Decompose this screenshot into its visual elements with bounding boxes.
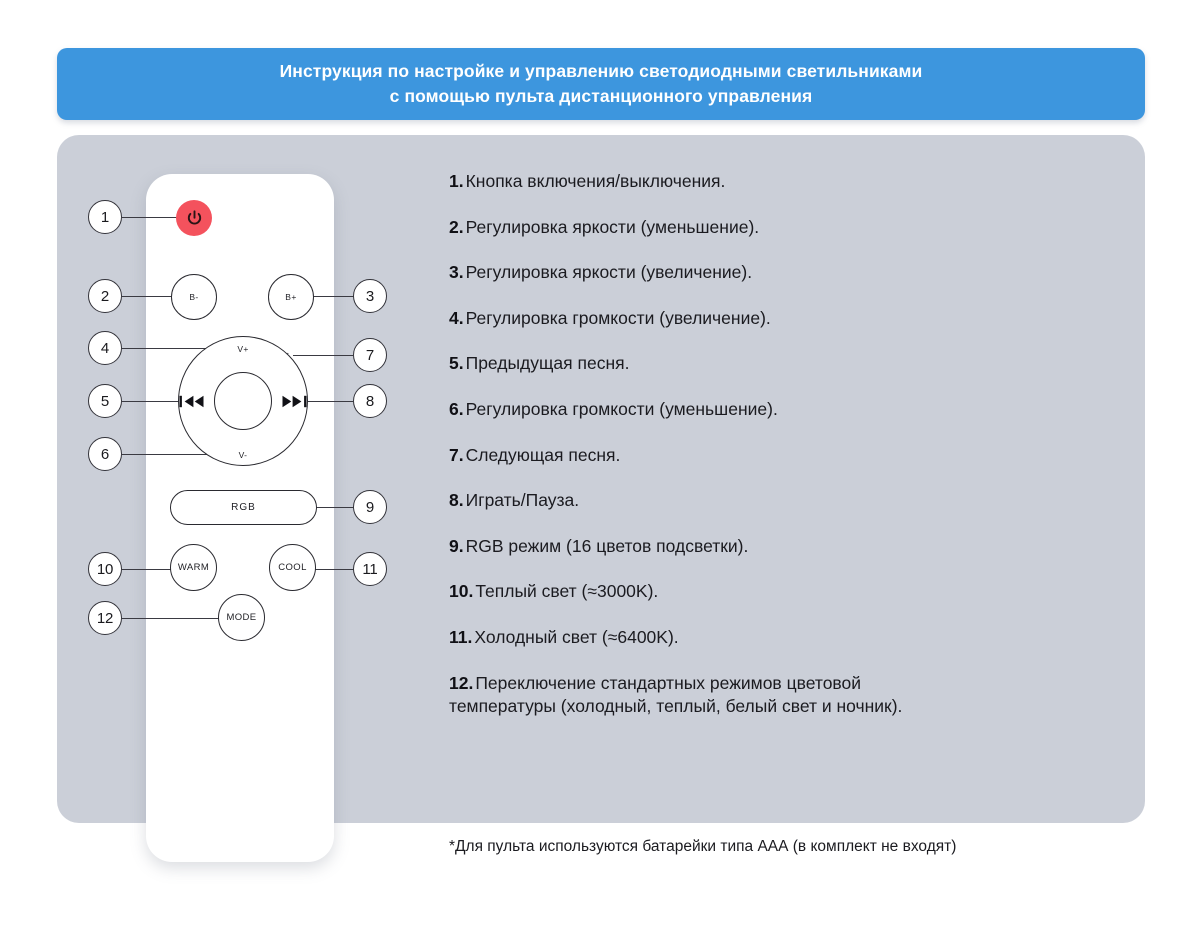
callout-2: 2: [88, 279, 122, 313]
header-banner: Инструкция по настройке и управлению све…: [57, 48, 1145, 120]
list-item-text: Регулировка яркости (уменьшение).: [466, 217, 760, 237]
leader-line-7: [293, 355, 353, 356]
callout-5: 5: [88, 384, 122, 418]
list-item-number: 4.: [449, 308, 464, 328]
list-item-text: Предыдущая песня.: [466, 353, 630, 373]
callout-10: 10: [88, 552, 122, 586]
next-track-button[interactable]: [278, 391, 310, 411]
list-item: 5.Предыдущая песня.: [449, 352, 919, 375]
list-item: 2.Регулировка яркости (уменьшение).: [449, 216, 919, 239]
list-item-number: 3.: [449, 262, 464, 282]
list-item-number: 6.: [449, 399, 464, 419]
next-track-icon: [281, 395, 307, 408]
volume-up-label[interactable]: V+: [223, 344, 263, 354]
list-item-number: 9.: [449, 536, 464, 556]
callout-1: 1: [88, 200, 122, 234]
mode-label: MODE: [226, 612, 256, 623]
list-item: 4.Регулировка громкости (увеличение).: [449, 307, 919, 330]
callout-3: 3: [353, 279, 387, 313]
leader-line-8: [305, 401, 353, 402]
volume-down-label[interactable]: V-: [223, 450, 263, 460]
cool-label: COOL: [278, 562, 307, 573]
previous-track-icon: [179, 395, 205, 408]
footnote: *Для пульта используются батарейки типа …: [449, 838, 956, 856]
list-item-text: Регулировка громкости (увеличение).: [466, 308, 771, 328]
list-item-text: Регулировка громкости (уменьшение).: [466, 399, 778, 419]
mode-button[interactable]: MODE: [218, 594, 265, 641]
list-item: 9.RGB режим (16 цветов подсветки).: [449, 535, 919, 558]
brightness-up-button[interactable]: B+: [268, 274, 314, 320]
leader-line-10: [122, 569, 172, 570]
power-button[interactable]: [176, 200, 212, 236]
brightness-up-label: B+: [285, 292, 296, 302]
list-item-number: 10.: [449, 581, 473, 601]
list-item: 11.Холодный свет (≈6400K).: [449, 626, 919, 649]
list-item-text: Теплый свет (≈3000K).: [475, 581, 658, 601]
header-title-line-2: с помощью пульта дистанционного управлен…: [390, 84, 813, 109]
leader-line-12: [122, 618, 220, 619]
list-item-number: 11.: [449, 627, 472, 647]
brightness-down-label: B-: [189, 292, 198, 302]
callout-12: 12: [88, 601, 122, 635]
list-item-text: RGB режим (16 цветов подсветки).: [466, 536, 749, 556]
list-item: 10.Теплый свет (≈3000K).: [449, 580, 919, 603]
list-item-number: 1.: [449, 171, 464, 191]
cool-button[interactable]: COOL: [269, 544, 316, 591]
list-item: 12.Переключение стандартных режимов цвет…: [449, 672, 919, 718]
list-item-number: 12.: [449, 673, 473, 693]
callout-7: 7: [353, 338, 387, 372]
list-item-text: Кнопка включения/выключения.: [466, 171, 726, 191]
callout-4: 4: [88, 331, 122, 365]
list-item: 8.Играть/Пауза.: [449, 489, 919, 512]
leader-line-5: [122, 401, 182, 402]
list-item: 3.Регулировка яркости (увеличение).: [449, 261, 919, 284]
leader-line-11: [314, 569, 354, 570]
previous-track-button[interactable]: [176, 391, 208, 411]
list-item-number: 8.: [449, 490, 464, 510]
list-item: 7.Следующая песня.: [449, 444, 919, 467]
list-item: 1.Кнопка включения/выключения.: [449, 170, 919, 193]
list-item-text: Холодный свет (≈6400K).: [474, 627, 678, 647]
callout-11: 11: [353, 552, 387, 586]
leader-line-9: [315, 507, 353, 508]
leader-line-1: [122, 217, 184, 218]
infographic-page: Инструкция по настройке и управлению све…: [0, 0, 1200, 933]
list-item-number: 7.: [449, 445, 464, 465]
callout-9: 9: [353, 490, 387, 524]
warm-label: WARM: [178, 562, 209, 573]
list-item-text: Играть/Пауза.: [466, 490, 580, 510]
instruction-list: 1.Кнопка включения/выключения. 2.Регулир…: [449, 170, 919, 740]
callout-6: 6: [88, 437, 122, 471]
brightness-down-button[interactable]: B-: [171, 274, 217, 320]
list-item-text: Регулировка яркости (увеличение).: [466, 262, 753, 282]
power-icon: [185, 209, 204, 228]
list-item-text: Переключение стандартных режимов цветово…: [449, 673, 902, 716]
warm-button[interactable]: WARM: [170, 544, 217, 591]
leader-line-3: [308, 296, 354, 297]
list-item-number: 2.: [449, 217, 464, 237]
leader-line-2: [122, 296, 177, 297]
navigation-inner-circle[interactable]: [214, 372, 272, 430]
callout-8: 8: [353, 384, 387, 418]
list-item-text: Следующая песня.: [466, 445, 621, 465]
list-item-number: 5.: [449, 353, 464, 373]
list-item: 6.Регулировка громкости (уменьшение).: [449, 398, 919, 421]
header-title-line-1: Инструкция по настройке и управлению све…: [280, 59, 923, 84]
rgb-button[interactable]: RGB: [170, 490, 317, 525]
rgb-label: RGB: [231, 502, 256, 513]
